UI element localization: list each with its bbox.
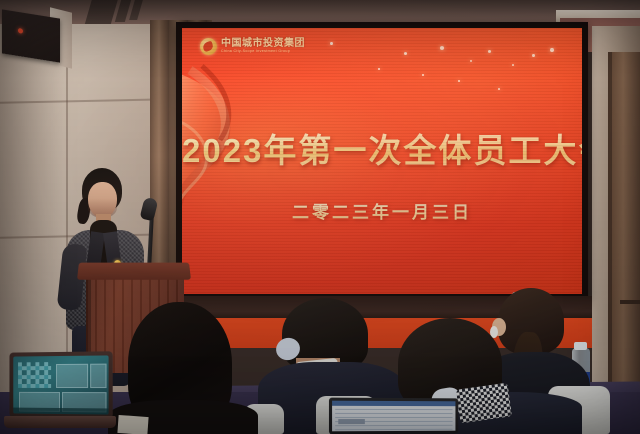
- conference-photo: 中国城市投资集团 China City-Scope Investment Gro…: [0, 0, 640, 434]
- laptop-titlebar: [332, 401, 455, 407]
- laptop-left[interactable]: [8, 352, 112, 428]
- paper-sheet: [117, 415, 148, 434]
- door-rail: [620, 300, 640, 304]
- led-screen: 中国城市投资集团 China City-Scope Investment Gro…: [182, 28, 582, 294]
- desktop-window: [56, 364, 88, 388]
- wall-speaker-icon: [2, 9, 60, 62]
- bottle-cap: [574, 342, 587, 350]
- spreadsheet-selection: [338, 419, 365, 424]
- desktop-taskbar: [13, 408, 108, 415]
- desktop-window: [90, 364, 106, 388]
- right-door: [612, 52, 640, 434]
- laptop-left-lid: [9, 351, 112, 418]
- laptop-right[interactable]: [330, 398, 460, 434]
- desktop-icon-grid: [18, 362, 51, 388]
- lectern-top: [77, 263, 191, 280]
- led-scanlines: [182, 28, 582, 294]
- speaker-led-icon: [18, 28, 23, 34]
- laptop-right-lid: [329, 398, 458, 434]
- laptop-right-screen: [332, 401, 455, 432]
- houndstooth-collar: [456, 383, 512, 424]
- laptop-left-screen: [13, 355, 108, 414]
- laptop-left-base: [4, 416, 116, 428]
